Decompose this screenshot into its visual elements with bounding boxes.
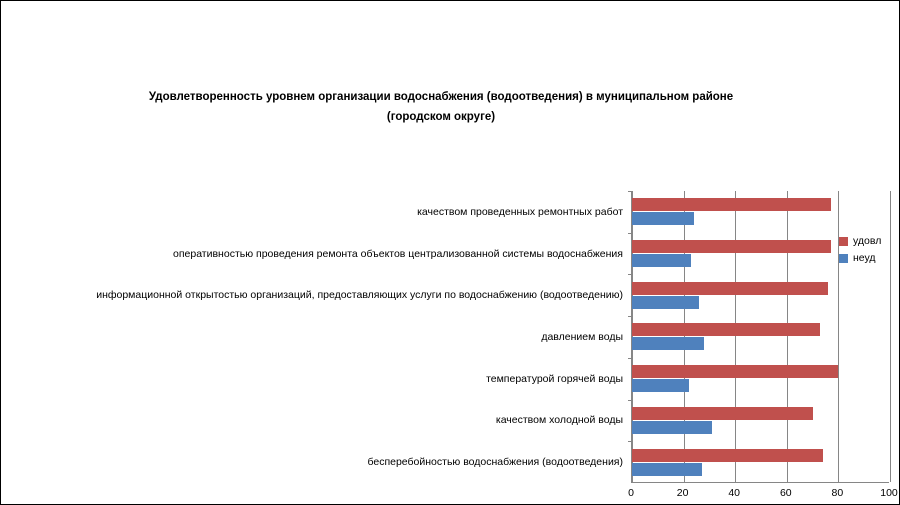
category-tick — [628, 358, 632, 359]
bar-неуд — [632, 463, 702, 476]
bar-group — [632, 441, 889, 483]
bar-group — [632, 358, 889, 400]
category-label: оперативностью проведения ремонта объект… — [173, 248, 623, 260]
category-tick — [628, 191, 632, 192]
bar-неуд — [632, 254, 691, 267]
category-tick — [628, 233, 632, 234]
x-tick-label: 60 — [780, 487, 792, 499]
legend-label: удовл — [853, 235, 881, 247]
chart-title-line-1: Удовлетворенность уровнем организации во… — [91, 87, 791, 107]
legend-swatch-icon — [839, 254, 848, 263]
x-tick-label: 0 — [628, 487, 634, 499]
bar-неуд — [632, 337, 704, 350]
category-tick — [628, 400, 632, 401]
category-label: бесперебойностью водоснабжения (водоотве… — [367, 456, 623, 468]
legend-label: неуд — [853, 252, 876, 264]
legend-swatch-icon — [839, 237, 848, 246]
category-label: давлением воды — [541, 331, 623, 343]
bar-удовл — [632, 240, 831, 253]
bar-неуд — [632, 379, 689, 392]
bar-удовл — [632, 282, 828, 295]
gridline-100 — [890, 191, 891, 482]
value-axis-labels: 020406080100 — [631, 487, 889, 503]
bar-удовл — [632, 323, 820, 336]
bar-неуд — [632, 296, 699, 309]
bar-group — [632, 274, 889, 316]
legend-item: неуд — [839, 252, 881, 264]
x-tick-label: 100 — [880, 487, 898, 499]
x-tick-label: 80 — [832, 487, 844, 499]
chart-title-line-2: (городском округе) — [91, 107, 791, 127]
chart-container: Удовлетворенность уровнем организации во… — [0, 0, 900, 505]
category-tick — [628, 441, 632, 442]
chart-title: Удовлетворенность уровнем организации во… — [91, 87, 791, 127]
bar-удовл — [632, 198, 831, 211]
category-axis-labels: качеством проведенных ремонтных работопе… — [1, 191, 627, 483]
category-tick — [628, 316, 632, 317]
chart-legend: удовлнеуд — [839, 235, 881, 264]
bar-удовл — [632, 365, 838, 378]
category-tick — [628, 274, 632, 275]
bar-group — [632, 400, 889, 442]
bar-неуд — [632, 421, 712, 434]
category-label: температурой горячей воды — [486, 373, 623, 385]
category-label: качеством проведенных ремонтных работ — [417, 206, 623, 218]
bar-удовл — [632, 407, 813, 420]
legend-item: удовл — [839, 235, 881, 247]
bar-group — [632, 316, 889, 358]
category-label: качеством холодной воды — [496, 414, 623, 426]
category-label: информационной открытостью организаций, … — [96, 289, 623, 301]
bar-неуд — [632, 212, 694, 225]
x-tick-label: 40 — [728, 487, 740, 499]
x-tick-label: 20 — [677, 487, 689, 499]
bar-удовл — [632, 449, 823, 462]
bar-group — [632, 191, 889, 233]
